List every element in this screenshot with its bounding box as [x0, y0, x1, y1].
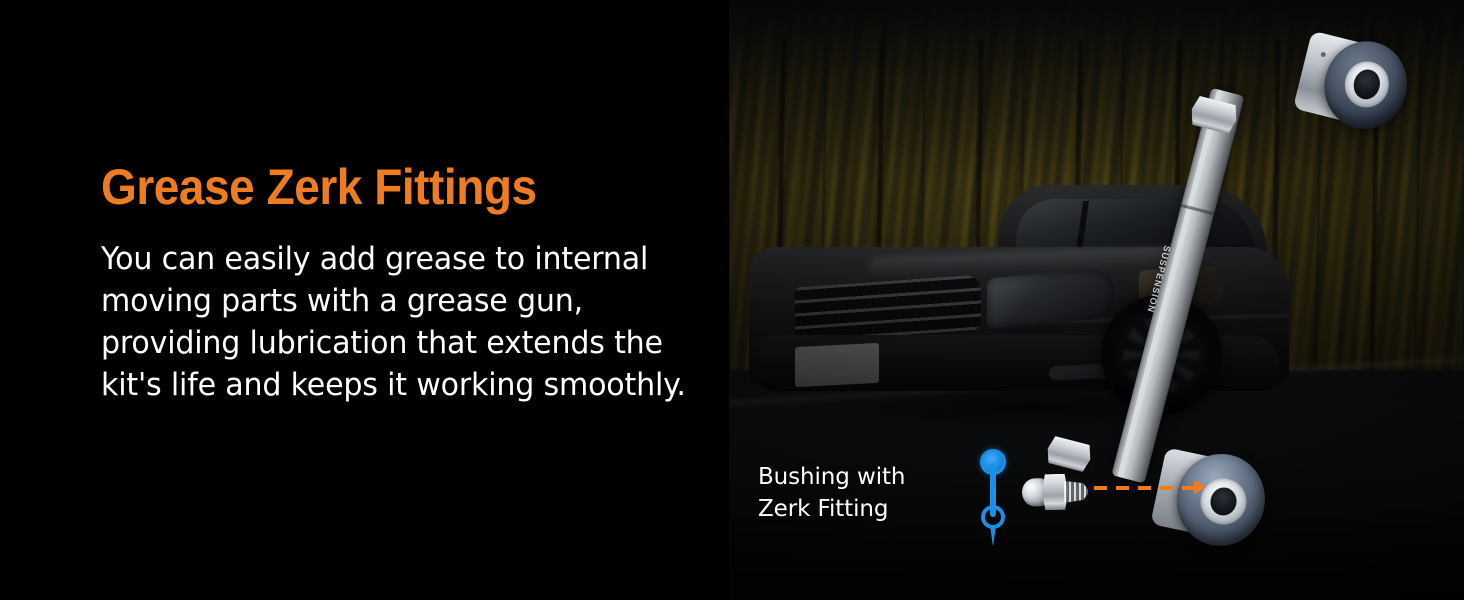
vehicle-hub: [1149, 343, 1173, 367]
location-pin-marker: [975, 449, 1011, 545]
arrow-right-icon: [1194, 480, 1208, 495]
product-feature-banner: Grease Zerk Fittings You can easily add …: [0, 0, 1464, 600]
body-line-1: You can easily add grease to internal: [101, 238, 683, 280]
callout-line-2: Zerk Fitting: [758, 493, 905, 525]
vehicle-wheel: [1101, 295, 1221, 415]
vehicle-license-plate: [795, 343, 879, 387]
headline: Grease Zerk Fittings: [101, 162, 653, 212]
callout-bushing-with-zerk-fitting: Bushing with Zerk Fitting: [758, 461, 905, 525]
grease-zerk-fitting-part: [1022, 469, 1093, 514]
body-copy: You can easily add grease to internal mo…: [101, 238, 683, 406]
text-block: Grease Zerk Fittings You can easily add …: [101, 162, 701, 406]
vehicle-sedan: [749, 185, 1289, 415]
left-text-panel: Grease Zerk Fittings You can easily add …: [0, 0, 729, 600]
callout-line-1: Bushing with: [758, 461, 905, 493]
body-line-4: kit's life and keeps it working smoothly…: [101, 364, 683, 406]
body-line-3: providing lubrication that extends the: [101, 322, 683, 364]
body-line-2: moving parts with a grease gun,: [101, 280, 683, 322]
orange-dashed-connector: [1094, 486, 1194, 490]
pin-tail: [990, 525, 996, 545]
